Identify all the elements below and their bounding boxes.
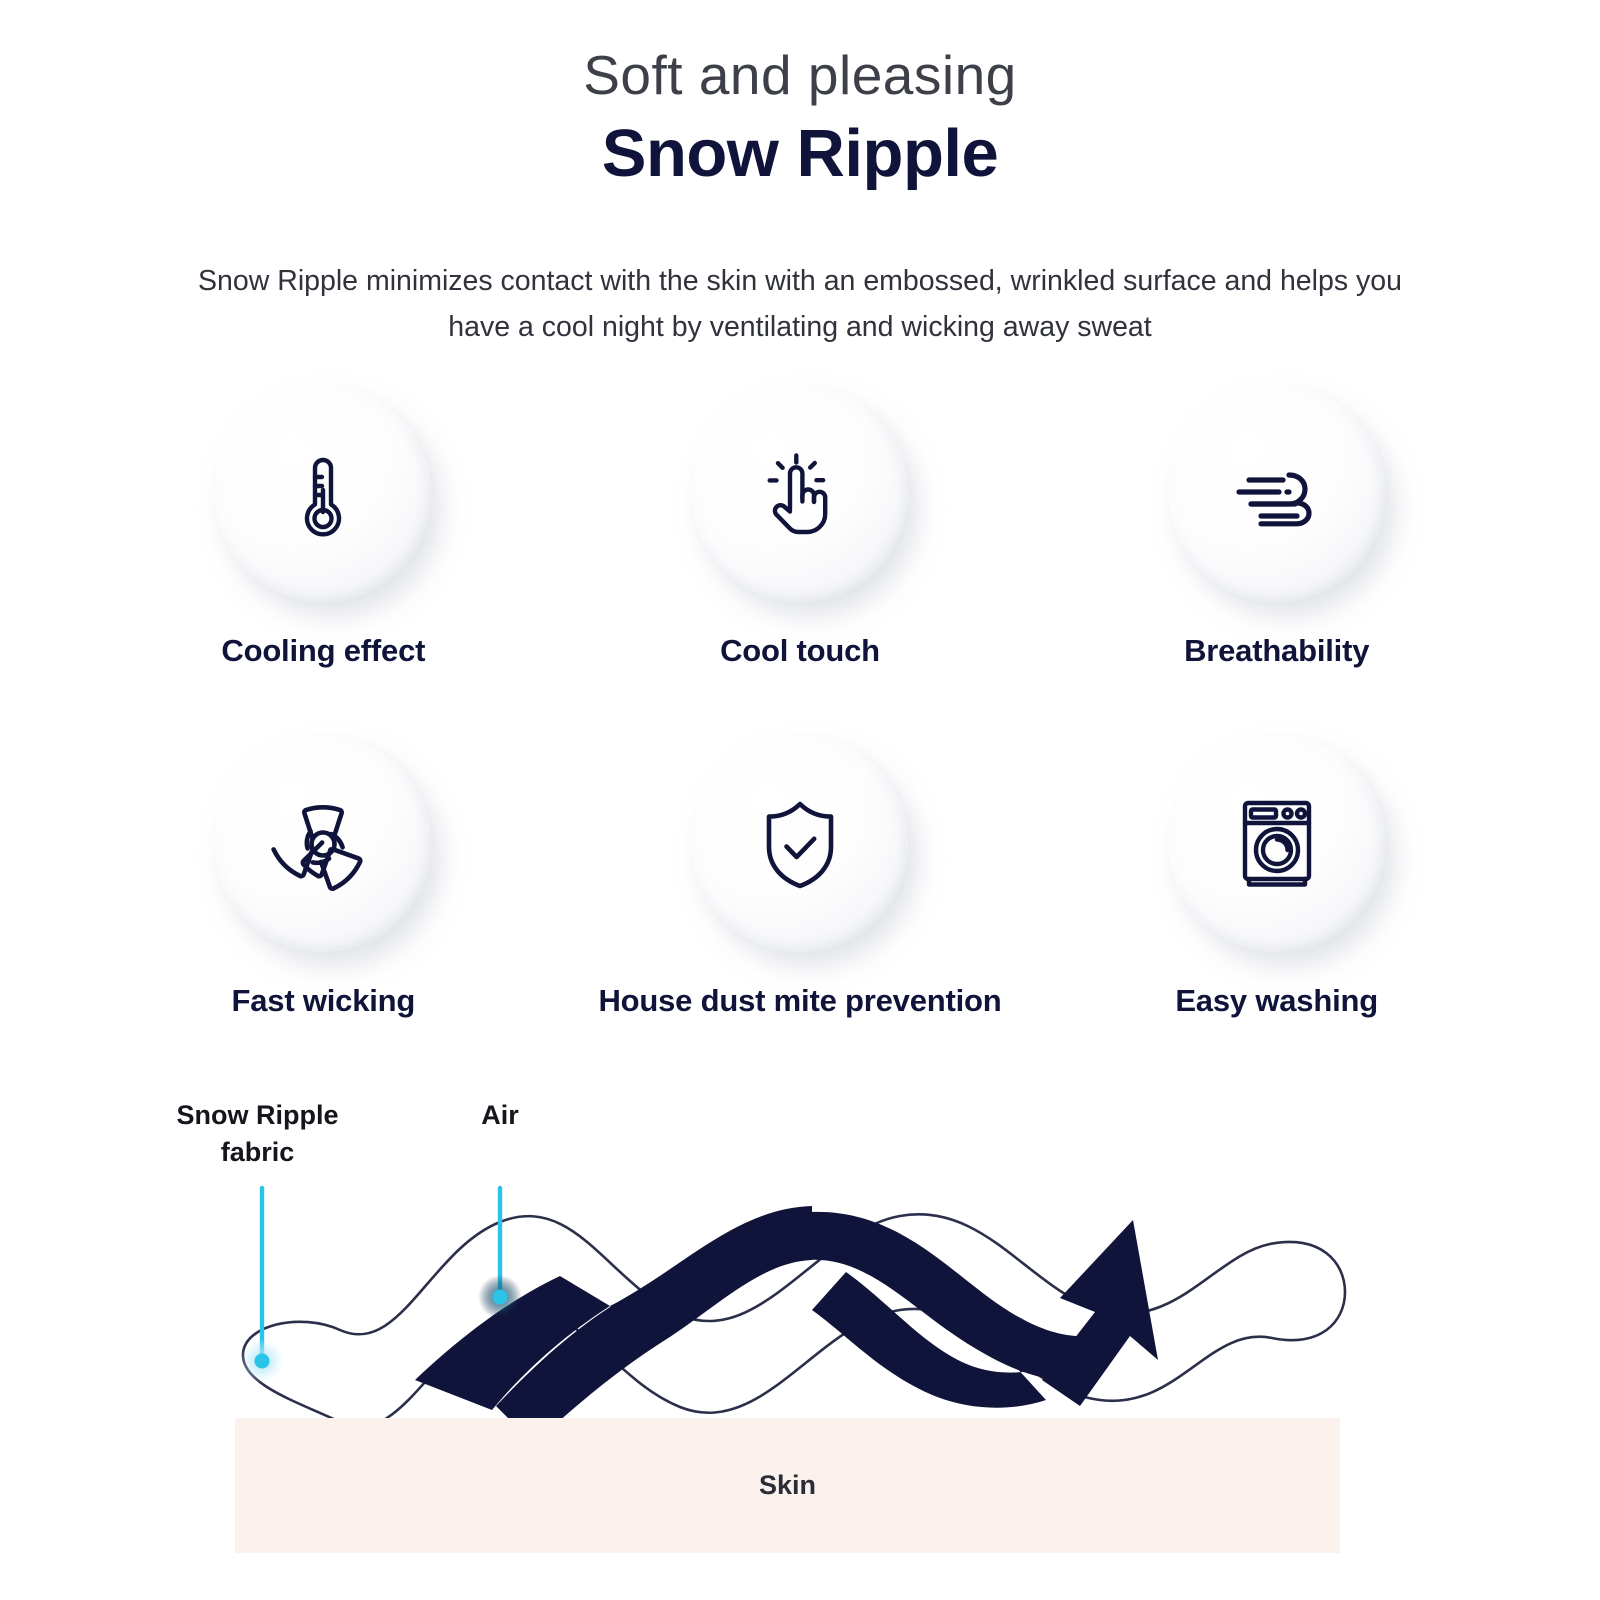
icon-badge — [692, 386, 908, 602]
icon-badge — [1169, 736, 1385, 952]
intro-paragraph: Snow Ripple minimizes contact with the s… — [190, 258, 1410, 350]
feature-label: Breathability — [1184, 633, 1369, 669]
leader-line-fabric — [240, 1188, 284, 1383]
thermometer-icon — [275, 446, 371, 542]
tap-hand-icon — [752, 446, 848, 542]
page-header: Soft and pleasing Snow Ripple — [0, 44, 1600, 192]
product-feature-infographic: Soft and pleasing Snow Ripple Snow Rippl… — [0, 0, 1600, 1600]
fan-icon — [271, 792, 375, 896]
wind-icon — [1227, 444, 1327, 544]
feature-label: Cool touch — [720, 633, 880, 669]
feature-label: House dust mite prevention — [598, 983, 1001, 1019]
skin-layer: Skin — [235, 1418, 1340, 1553]
feature-item-cool-touch: Cool touch — [562, 386, 1039, 736]
icon-badge — [1169, 386, 1385, 602]
skin-label: Skin — [759, 1470, 816, 1501]
feature-item-house-dust-mite-prevention: House dust mite prevention — [562, 736, 1039, 1086]
feature-label: Fast wicking — [232, 983, 416, 1019]
feature-label: Cooling effect — [221, 633, 425, 669]
icon-badge — [692, 736, 908, 952]
page-title: Snow Ripple — [0, 115, 1600, 192]
icon-badge — [215, 386, 431, 602]
feature-grid: Cooling effect Cool touch — [85, 386, 1515, 1086]
feature-label: Easy washing — [1175, 983, 1378, 1019]
feature-item-cooling-effect: Cooling effect — [85, 386, 562, 736]
washing-machine-icon — [1228, 795, 1326, 893]
feature-item-fast-wicking: Fast wicking — [85, 736, 562, 1086]
feature-item-easy-washing: Easy washing — [1038, 736, 1515, 1086]
eyebrow-text: Soft and pleasing — [0, 44, 1600, 107]
shield-check-icon — [750, 794, 850, 894]
icon-badge — [215, 736, 431, 952]
feature-item-breathability: Breathability — [1038, 386, 1515, 736]
